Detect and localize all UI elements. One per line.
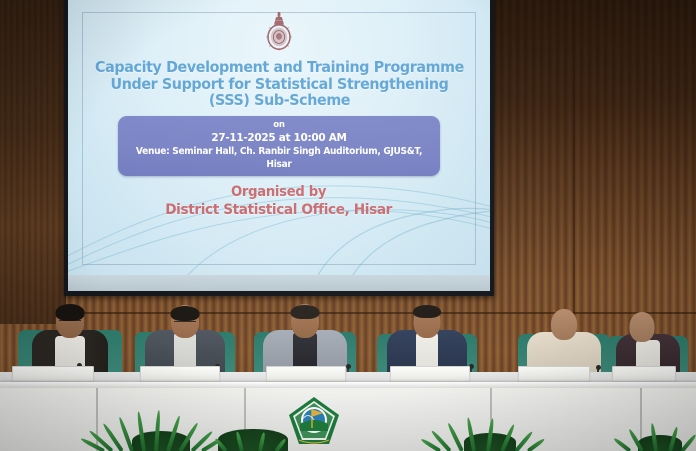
foreground-palm-left [96, 405, 226, 451]
foreground-shrub-centre [214, 425, 292, 451]
wall-dark-panel-left [0, 0, 66, 324]
projection-screen-surface: Capacity Development and Training Progra… [68, 0, 490, 291]
slide-title: Capacity Development and Training Progra… [95, 59, 464, 109]
slide-event-banner: on 27-11-2025 at 10:00 AM Venue: Seminar… [118, 116, 440, 176]
banner-datetime: 27-11-2025 at 10:00 AM [132, 131, 427, 145]
panelist-4-hair [413, 305, 441, 318]
gjust-university-logo [288, 396, 340, 446]
slide-title-line-3: (SSS) Sub-Scheme [95, 92, 464, 109]
panelist-1-glasses [59, 320, 81, 324]
organiser-name: District Statistical Office, Hisar [166, 201, 393, 219]
slide-organiser-block: Organised by District Statistical Office… [158, 184, 399, 219]
dais-top-edge [0, 382, 696, 388]
screen-bottom-lip [68, 275, 490, 291]
foreground-palm-right-edge [624, 417, 696, 451]
nameplate-1 [12, 366, 94, 382]
banner-on-label: on [124, 120, 434, 131]
projection-screen: Capacity Development and Training Progra… [64, 0, 494, 296]
organised-by-label: Organised by [166, 184, 393, 201]
panelist-1-hair [56, 304, 85, 321]
panelist-3-hair [291, 305, 320, 319]
nameplate-5 [518, 366, 590, 382]
banner-venue: Venue: Seminar Hall, Ch. Ranbir Singh Au… [132, 145, 427, 171]
panelist-5-head [551, 309, 577, 340]
auditorium-event-photo: Capacity Development and Training Progra… [0, 0, 696, 451]
nameplate-6 [612, 366, 676, 382]
nameplate-3 [266, 366, 346, 382]
panelist-2-glasses [174, 321, 196, 325]
haryana-government-emblem [264, 10, 294, 56]
nameplate-4 [390, 366, 470, 382]
panelist-6-head [630, 312, 655, 342]
slide-title-line-2: Under Support for Statistical Strengthen… [95, 76, 464, 93]
slide-title-line-1: Capacity Development and Training Progra… [95, 59, 464, 76]
nameplate-2 [140, 366, 220, 382]
foreground-palm-right [430, 411, 550, 451]
presentation-slide: Capacity Development and Training Progra… [68, 0, 490, 275]
panelist-2-hair [171, 306, 200, 321]
wall-seam-horizontal [0, 312, 696, 314]
